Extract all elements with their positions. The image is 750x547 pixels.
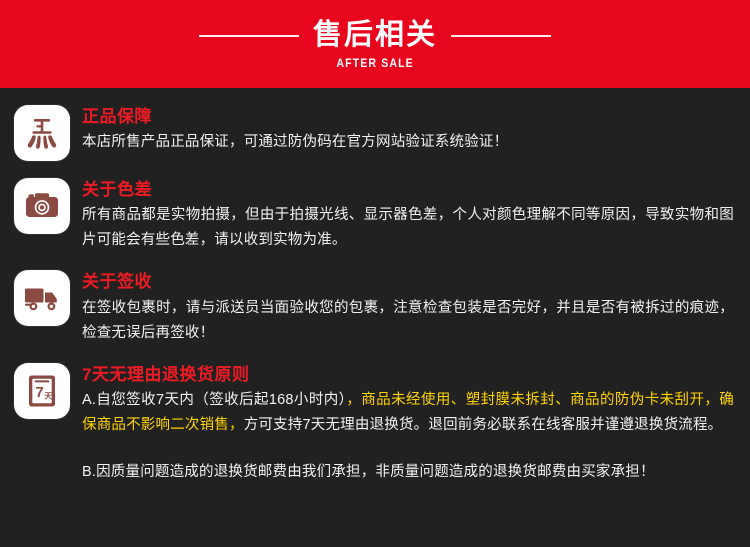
section-text: 正品保障 本店所售产品正品保证，可通过防伪码在官方网站验证系统验证！ [70,105,734,155]
section-text: 关于签收 在签收包裹时，请与派送员当面验收您的包裹，注意检查包装是否完好，并且是… [70,270,734,345]
section-body-paragraph-b: B.因质量问题造成的退换货邮费由我们承担，非质量问题造成的退换货邮费由买家承担！ [82,460,734,485]
section-heading: 7天无理由退换货原则 [82,364,734,385]
section-text: 7天无理由退换货原则 A.自您签收7天内（签收后起168小时内），商品未经使用、… [70,363,734,485]
section-body: 所有商品都是实物拍摄，但由于拍摄光线、显示器色差，个人对颜色理解不同等原因，导致… [82,203,734,253]
section-heading: 关于色差 [82,179,734,200]
section-genuine-guarantee: 正品保障 本店所售产品正品保证，可通过防伪码在官方网站验证系统验证！ [0,88,750,161]
page-title: 售后相关 [313,20,437,50]
banner-rule-right [451,35,551,37]
section-seven-day-return: 7 天 7天无理由退换货原则 A.自您签收7天内（签收后起168小时内），商品未… [0,346,750,485]
sections-container: 正品保障 本店所售产品正品保证，可通过防伪码在官方网站验证系统验证！ [0,88,750,485]
svg-text:7: 7 [35,384,43,401]
svg-text:天: 天 [44,391,53,400]
section-body-paragraph-a: A.自您签收7天内（签收后起168小时内），商品未经使用、塑封膜未拆封、商品的防… [82,388,734,438]
para-a-part1: A.自您签收7天内（签收后起168小时内） [82,392,346,408]
page-subtitle: AFTER SALE [336,58,413,70]
banner-rule-left [199,35,299,37]
seven-day-return-icon: 7 天 [14,363,70,419]
section-receiving: 关于签收 在签收包裹时，请与派送员当面验收您的包裹，注意检查包装是否完好，并且是… [0,253,750,345]
after-sale-page: 售后相关 AFTER SALE [0,0,750,547]
section-body: 在签收包裹时，请与派送员当面验收您的包裹，注意检查包装是否完好，并且是否有被拆过… [82,296,734,346]
camera-icon [14,178,70,234]
delivery-truck-icon [14,270,70,326]
page-banner: 售后相关 AFTER SALE [0,0,750,88]
genuine-guarantee-icon [14,105,70,161]
section-heading: 关于签收 [82,271,734,292]
banner-content: 售后相关 AFTER SALE [0,0,750,88]
section-body: 本店所售产品正品保证，可通过防伪码在官方网站验证系统验证！ [82,130,734,155]
banner-title-row: 售后相关 [199,20,551,50]
section-heading: 正品保障 [82,106,734,127]
section-text: 关于色差 所有商品都是实物拍摄，但由于拍摄光线、显示器色差，个人对颜色理解不同等… [70,178,734,253]
section-color-difference: 关于色差 所有商品都是实物拍摄，但由于拍摄光线、显示器色差，个人对颜色理解不同等… [0,161,750,253]
para-a-part2: 方可支持7天无理由退换货。退回前务必联系在线客服并谨遵退换货流程。 [244,417,723,433]
